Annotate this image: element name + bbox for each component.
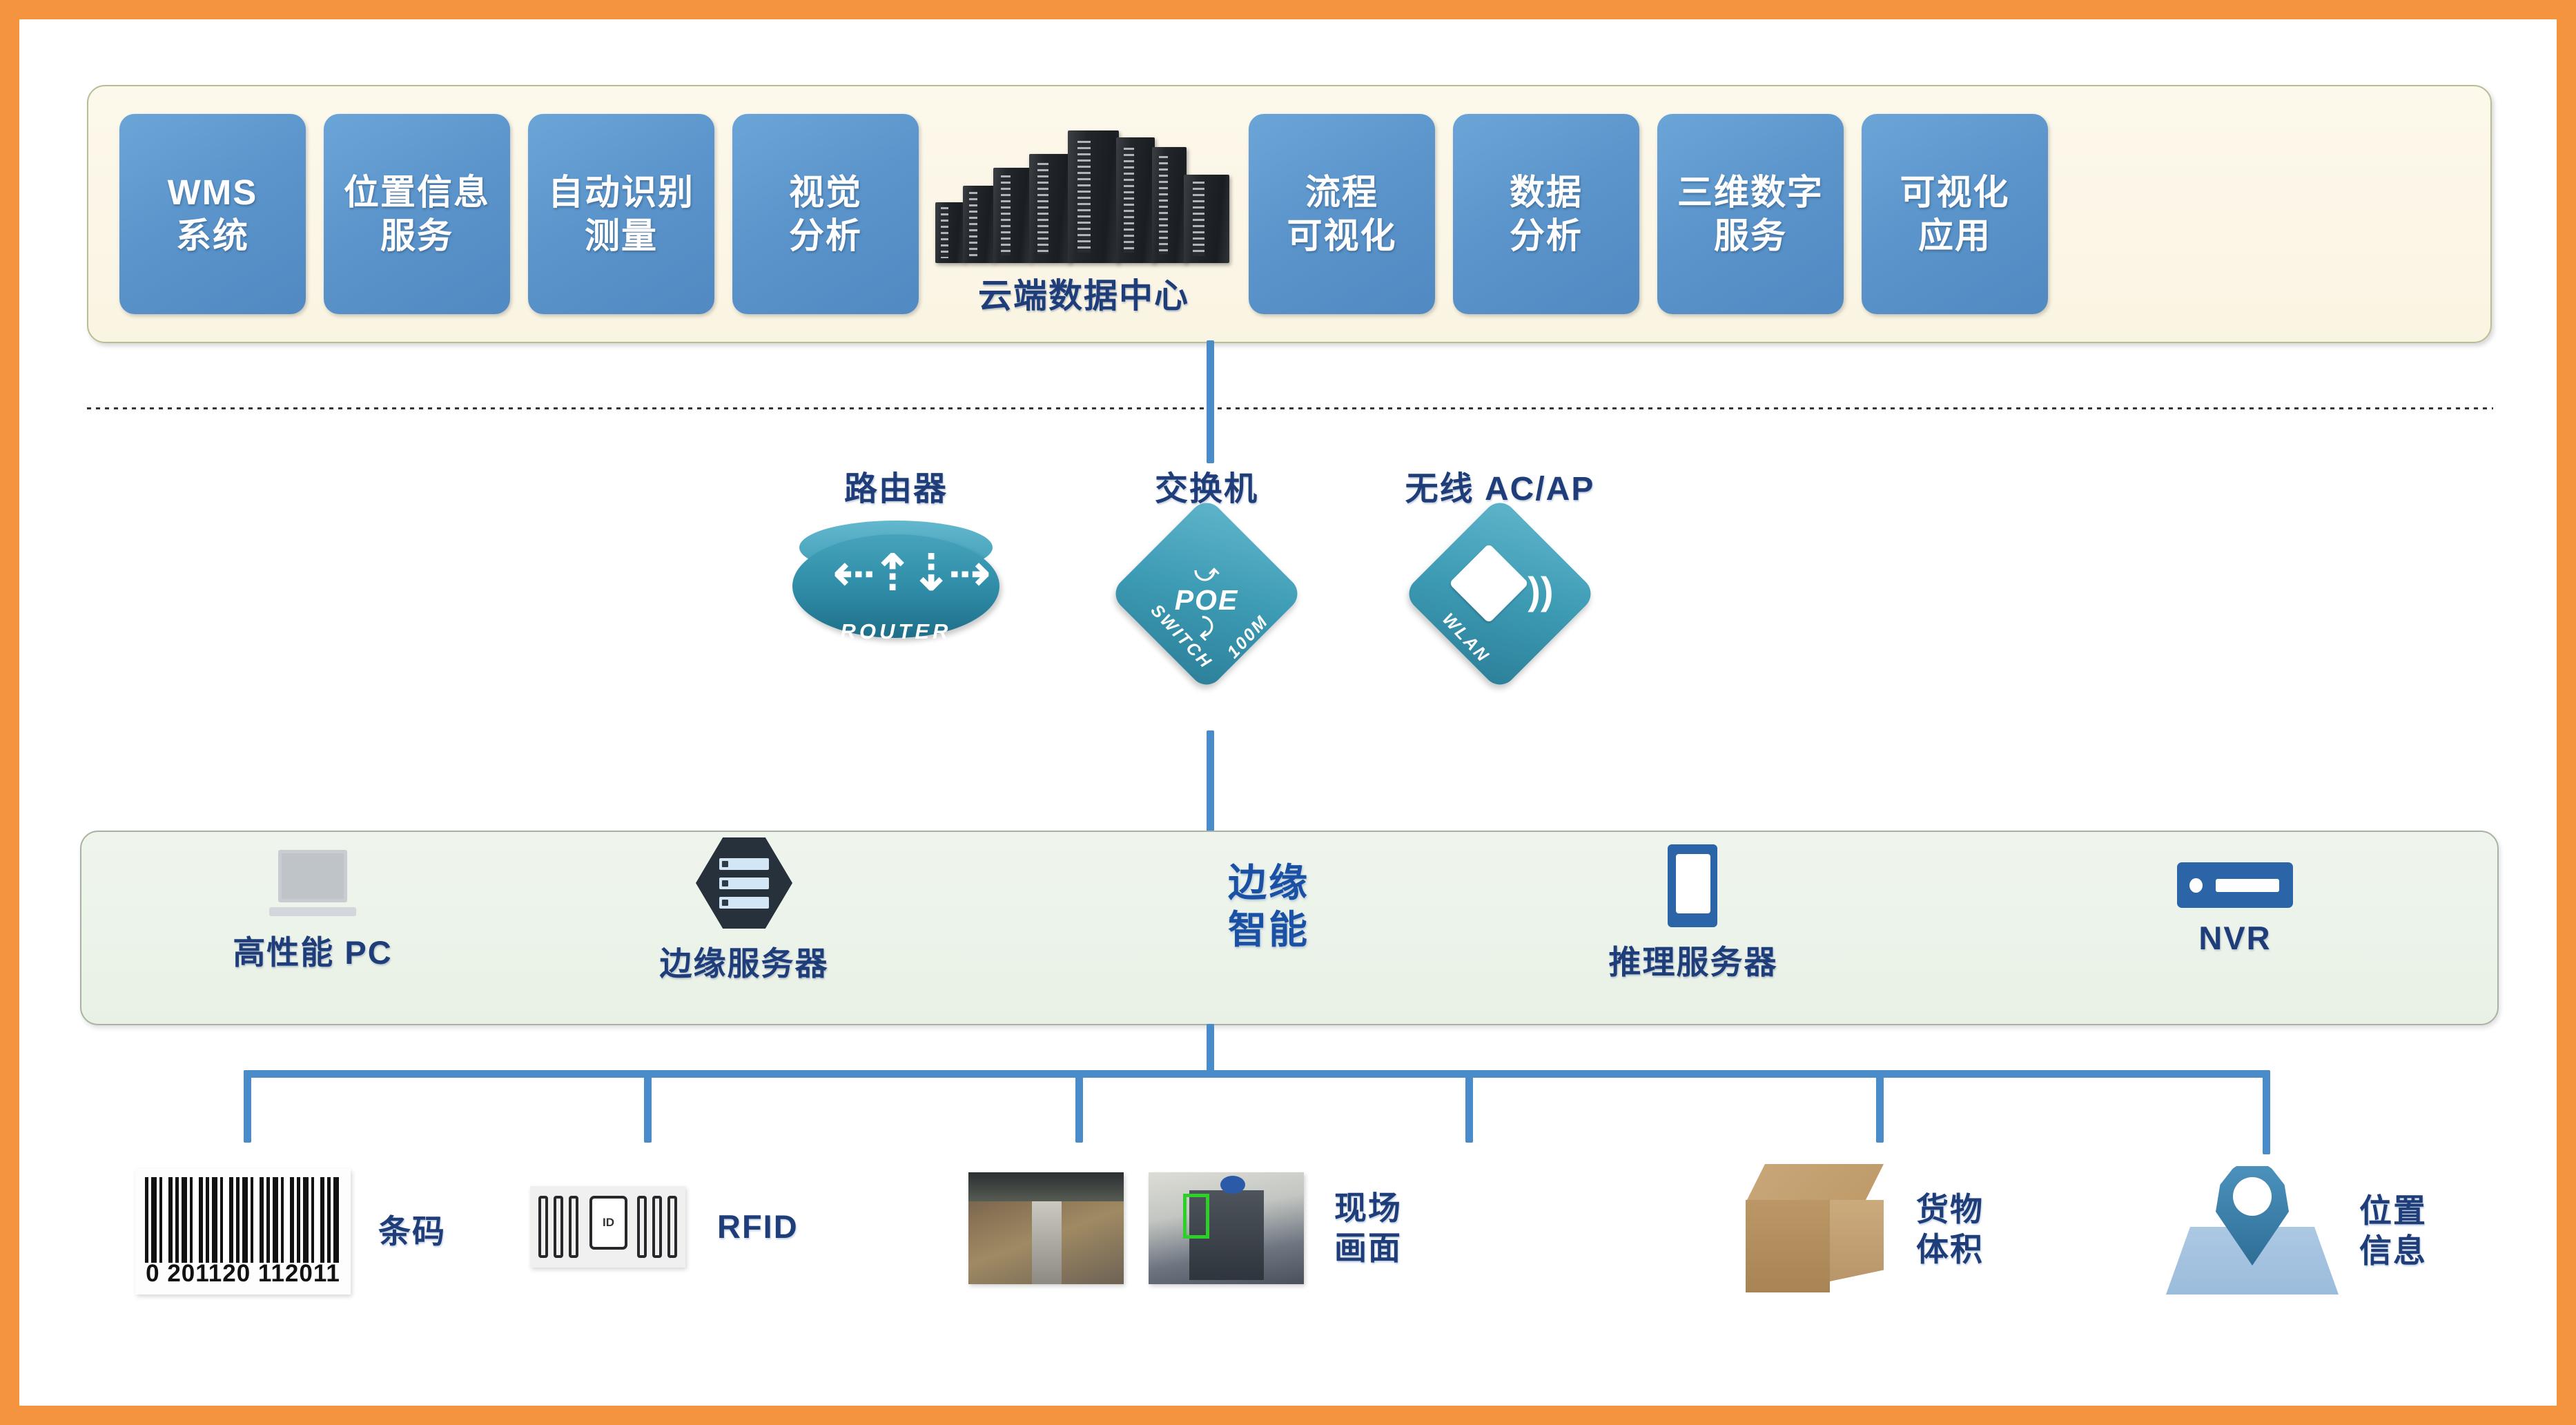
app-box-line1: 可视化 <box>1900 171 2009 214</box>
edge-item-label: 边缘服务器 <box>627 937 861 985</box>
sensor-item-cargo-volume[interactable]: 货物 体积 <box>1741 1164 1984 1295</box>
cloud-data-center-label: 云端数据中心 <box>978 269 1189 318</box>
carton-box-icon <box>1741 1164 1897 1295</box>
connector-edge-to-bus <box>1207 1024 1214 1074</box>
rfid-tag-icon: ID <box>530 1186 685 1268</box>
router-body-text: ROUTER <box>792 619 999 644</box>
inference-server-icon <box>1662 839 1724 927</box>
connector-drop-barcode <box>244 1070 251 1143</box>
network-device-wireless-ap[interactable]: 无线 AC/AP )) WLAN <box>1355 461 1645 681</box>
app-box-line1: 自动识别 <box>548 171 694 214</box>
app-box-visual-analysis[interactable]: 视觉 分析 <box>732 114 919 314</box>
network-device-row: 路由器 ⇠⇡⇣⇢ ROUTER 交换机 ⤻ POE ⤸ <box>19 461 2557 751</box>
barcode-icon: 0 201120 112011 <box>135 1169 351 1295</box>
edge-item-edge-server[interactable]: 边缘服务器 <box>627 837 861 985</box>
edge-intelligence-band: 高性能 PC 边缘服务器 边缘 智能 推理服务器 NVR <box>80 831 2499 1025</box>
rfid-chip-text: ID <box>589 1196 627 1250</box>
router-icon: ⇠⇡⇣⇢ ROUTER <box>792 519 999 654</box>
sensor-label-line2: 体积 <box>1916 1231 1984 1268</box>
app-box-line1: 位置信息 <box>344 171 490 214</box>
connector-drop-camera-1 <box>1075 1070 1083 1143</box>
app-box-data-analysis[interactable]: 数据 分析 <box>1453 114 1639 314</box>
app-box-visualization-application[interactable]: 可视化 应用 <box>1862 114 2048 314</box>
wireless-ap-icon: )) WLAN <box>1419 519 1581 681</box>
server-rack-cluster-icon <box>935 128 1232 263</box>
layer-divider <box>87 407 2493 409</box>
edge-title-line2: 智能 <box>1228 908 1309 951</box>
app-box-line2: 分析 <box>1510 214 1583 258</box>
edge-item-label: 高性能 PC <box>199 926 427 973</box>
app-box-line2: 服务 <box>380 214 453 258</box>
app-box-3d-digital-service[interactable]: 三维数字 服务 <box>1657 114 1844 314</box>
connector-drop-rfid <box>644 1070 652 1143</box>
cloud-data-center: 云端数据中心 <box>932 110 1236 318</box>
app-box-line2: 系统 <box>176 214 249 258</box>
location-pin-icon <box>2166 1162 2339 1300</box>
edge-item-inference-server[interactable]: 推理服务器 <box>1572 839 1814 983</box>
app-box-line2: 测量 <box>585 214 658 258</box>
sensor-label-location-info: 位置 信息 <box>2359 1191 2427 1272</box>
app-box-process-visualization[interactable]: 流程 可视化 <box>1249 114 1435 314</box>
app-box-line2: 服务 <box>1714 214 1787 258</box>
edge-server-hexagon-icon <box>696 837 792 929</box>
app-box-location-service[interactable]: 位置信息 服务 <box>324 114 510 314</box>
app-box-line1: 流程 <box>1305 171 1378 214</box>
app-box-line1: WMS <box>168 171 258 214</box>
laptop-icon <box>269 850 356 916</box>
sensor-label-cargo-volume: 货物 体积 <box>1916 1190 1984 1270</box>
connector-drop-location <box>2263 1070 2270 1154</box>
cloud-application-panel: WMS 系统 位置信息 服务 自动识别 测量 视觉 分析 <box>87 85 2492 343</box>
app-box-line1: 视觉 <box>789 171 862 214</box>
edge-intelligence-title: 边缘 智能 <box>1096 860 1441 954</box>
app-box-line2: 可视化 <box>1287 214 1396 258</box>
network-device-router[interactable]: 路由器 ⇠⇡⇣⇢ ROUTER <box>758 461 1034 654</box>
sensor-item-barcode[interactable]: 0 201120 112011 条码 <box>135 1169 446 1295</box>
app-box-auto-recognition[interactable]: 自动识别 测量 <box>528 114 714 314</box>
switch-poe-text: POE <box>1175 584 1239 617</box>
sensor-label-rfid: RFID <box>717 1207 799 1247</box>
connector-switch-to-edge <box>1207 730 1214 834</box>
switch-icon: ⤻ POE ⤸ SWITCH 100M <box>1126 519 1288 681</box>
barcode-number: 0 201120 112011 <box>135 1260 351 1288</box>
connector-cloud-to-switch <box>1207 340 1214 463</box>
edge-item-label: NVR <box>2125 919 2345 957</box>
sensor-item-camera-feed[interactable]: 现场 画面 <box>968 1172 1402 1284</box>
nvr-icon <box>2177 862 2293 908</box>
sensor-item-location-info[interactable]: 位置 信息 <box>2166 1162 2427 1300</box>
sensor-label-line2: 信息 <box>2359 1232 2427 1269</box>
diagram-canvas: WMS 系统 位置信息 服务 自动识别 测量 视觉 分析 <box>19 19 2557 1406</box>
app-box-wms[interactable]: WMS 系统 <box>119 114 306 314</box>
sensor-label-camera-feed: 现场 画面 <box>1334 1188 1402 1269</box>
app-box-line1: 数据 <box>1510 171 1583 214</box>
sensor-label-line1: 位置 <box>2359 1192 2427 1229</box>
sensor-item-rfid[interactable]: ID RFID <box>530 1186 799 1268</box>
app-box-line2: 分析 <box>789 214 862 258</box>
camera-feed-icon <box>1149 1172 1304 1284</box>
connector-drop-carton <box>1876 1070 1884 1143</box>
connector-bus <box>244 1070 2270 1078</box>
connector-drop-camera-2 <box>1465 1070 1473 1143</box>
network-device-switch[interactable]: 交换机 ⤻ POE ⤸ SWITCH 100M <box>1086 461 1327 681</box>
app-box-line1: 三维数字 <box>1677 171 1824 214</box>
sensor-label-line1: 现场 <box>1334 1190 1402 1226</box>
sensor-label-line1: 货物 <box>1916 1191 1984 1228</box>
app-box-line2: 应用 <box>1918 214 1991 258</box>
edge-item-label: 推理服务器 <box>1572 936 1814 983</box>
sensor-label-barcode: 条码 <box>378 1212 446 1252</box>
edge-item-high-performance-pc[interactable]: 高性能 PC <box>199 850 427 973</box>
camera-feed-icon <box>968 1172 1124 1284</box>
edge-title-line1: 边缘 <box>1228 861 1309 904</box>
router-label: 路由器 <box>758 461 1034 510</box>
sensor-label-line2: 画面 <box>1334 1230 1402 1266</box>
edge-item-nvr[interactable]: NVR <box>2125 862 2345 957</box>
